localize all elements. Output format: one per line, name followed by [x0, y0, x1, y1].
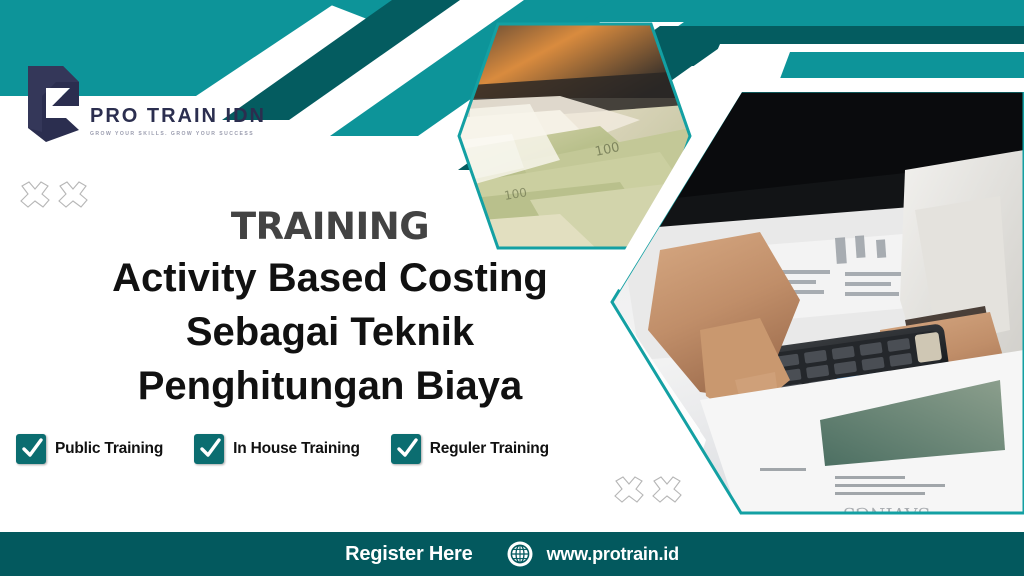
- headline-block: TRAINING Activity Based Costing Sebagai …: [60, 208, 600, 413]
- pro-train-arrow-logo-icon: [16, 62, 82, 146]
- x-cross-outline-icon-right: [610, 475, 686, 515]
- globe-icon: [507, 541, 533, 567]
- option-label: Public Training: [55, 440, 163, 458]
- footer-bar: Register Here www.protrain.id: [0, 532, 1024, 576]
- option-public-training[interactable]: Public Training: [16, 434, 163, 464]
- option-label: In House Training: [233, 440, 360, 458]
- checkbox-checked-icon[interactable]: [194, 434, 224, 464]
- register-here-cta[interactable]: Register Here: [345, 543, 472, 566]
- kicker-training: TRAINING: [60, 208, 600, 247]
- page-title: Activity Based Costing Sebagai Teknik Pe…: [60, 251, 600, 413]
- option-reguler-training[interactable]: Reguler Training: [391, 434, 549, 464]
- brand-tagline: GROW YOUR SKILLS. GROW YOUR SUCCESS: [90, 131, 266, 137]
- website-url[interactable]: www.protrain.id: [547, 544, 679, 565]
- title-line-1: Activity Based Costing: [60, 251, 600, 305]
- poster-canvas: 100 100: [0, 0, 1024, 576]
- brand-name: PRO TRAIN IDN: [90, 106, 266, 126]
- training-options: Public Training In House Training Regule…: [16, 434, 549, 464]
- option-label: Reguler Training: [430, 440, 549, 458]
- checkbox-checked-icon[interactable]: [16, 434, 46, 464]
- brand-logo[interactable]: PRO TRAIN IDN GROW YOUR SKILLS. GROW YOU…: [16, 62, 266, 146]
- checkbox-checked-icon[interactable]: [391, 434, 421, 464]
- title-line-3: Penghitungan Biaya: [60, 359, 600, 413]
- title-line-2: Sebagai Teknik: [60, 305, 600, 359]
- website-group[interactable]: www.protrain.id: [507, 541, 679, 567]
- option-in-house-training[interactable]: In House Training: [194, 434, 360, 464]
